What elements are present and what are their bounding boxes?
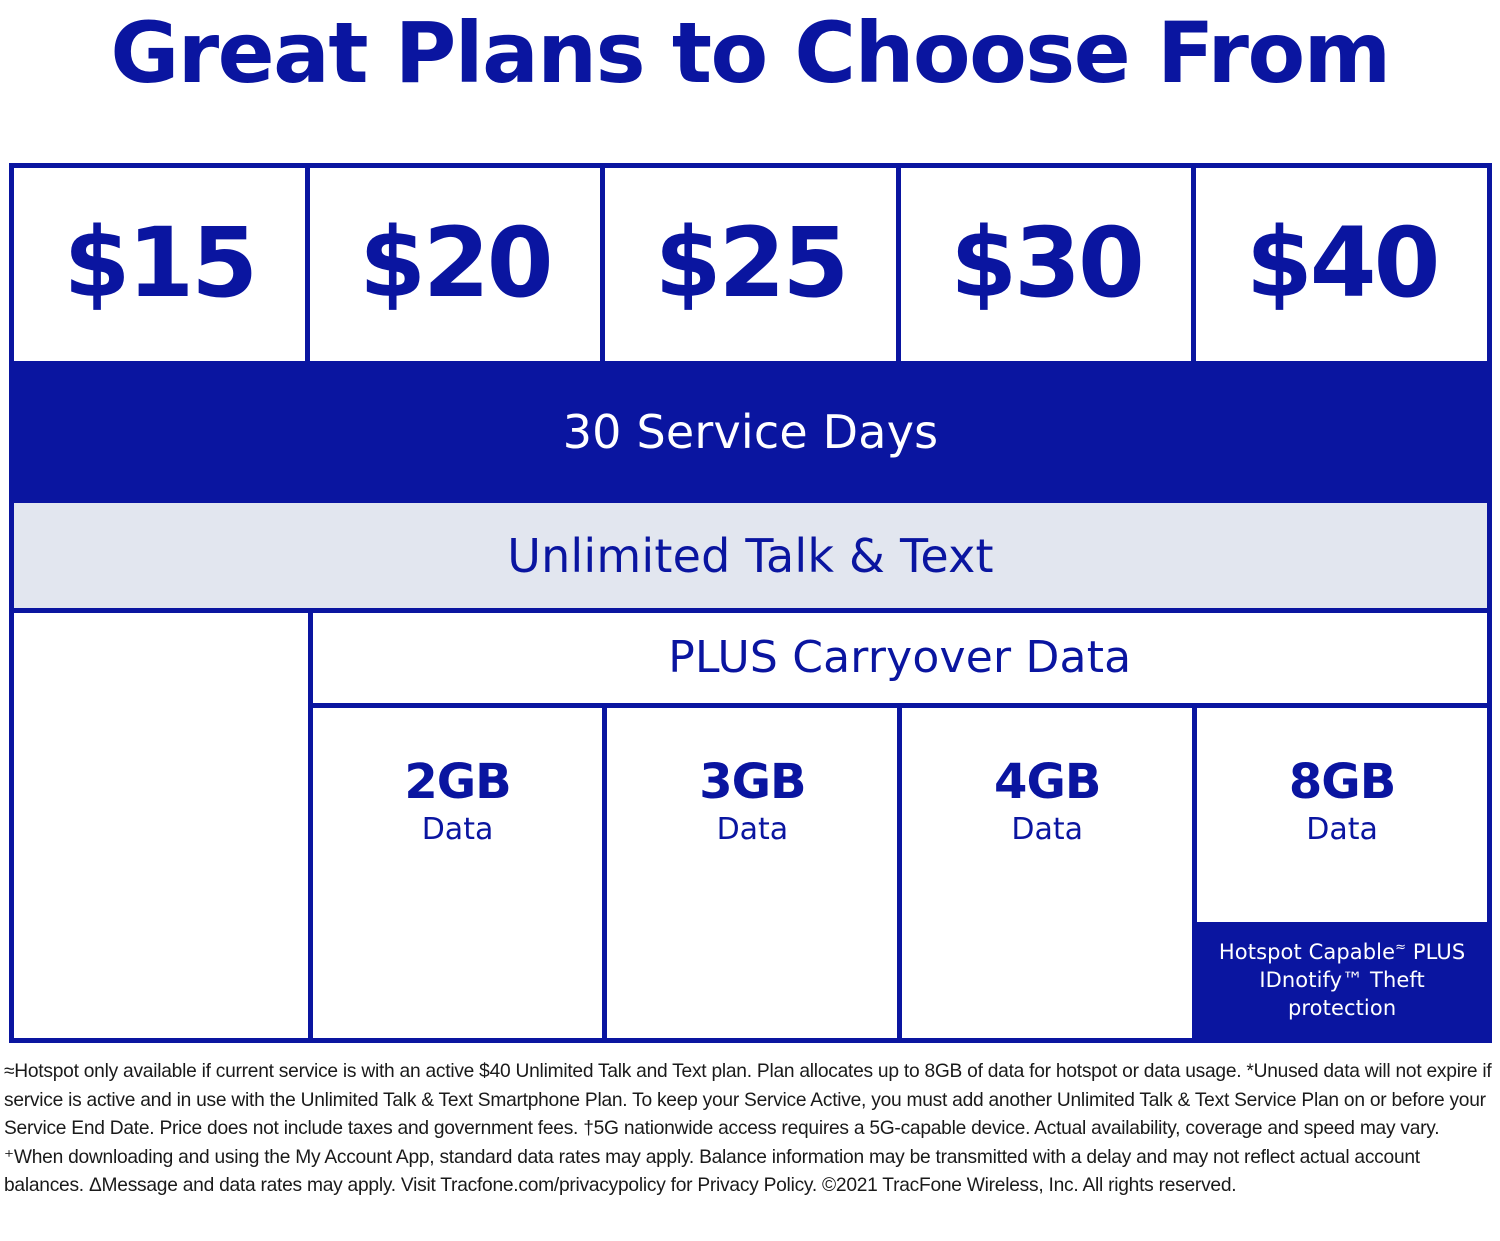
price-label: $30: [950, 215, 1141, 311]
price-label: $25: [655, 215, 846, 311]
data-section: PLUS Carryover Data 2GB Data 3GB Data 4G…: [14, 608, 1487, 1038]
data-unit: Data: [422, 812, 494, 848]
page-title: Great Plans to Choose From: [0, 2, 1500, 104]
data-amount: 2GB: [404, 756, 510, 808]
hotspot-line1-post: PLUS: [1406, 940, 1465, 964]
empty-cell-15: [14, 613, 313, 1038]
hotspot-promo-text: Hotspot Capable≈ PLUSIDnotify™ Theft pro…: [1203, 938, 1481, 1022]
service-days-label: 30 Service Days: [563, 407, 939, 457]
data-cell-20[interactable]: 2GB Data: [313, 708, 603, 1038]
data-amount: 3GB: [699, 756, 805, 808]
plans-table-inner: $15 $20 $25 $30 $40 30 Service Days: [14, 168, 1487, 1038]
legal-footnote: ≈Hotspot only available if current servi…: [4, 1058, 1496, 1201]
hotspot-promo-box: Hotspot Capable≈ PLUSIDnotify™ Theft pro…: [1197, 922, 1487, 1038]
price-column-30[interactable]: $30: [896, 168, 1192, 361]
data-allowance-row: 2GB Data 3GB Data 4GB Data 8GB: [313, 708, 1487, 1038]
talk-text-label: Unlimited Talk & Text: [507, 531, 994, 581]
carryover-row: PLUS Carryover Data: [313, 613, 1487, 708]
service-days-row: 30 Service Days: [14, 361, 1487, 503]
data-cell-40[interactable]: 8GB Data Hotspot Capable≈ PLUSIDnotify™ …: [1192, 708, 1487, 1038]
data-unit: Data: [1306, 812, 1378, 848]
price-header-row: $15 $20 $25 $30 $40: [14, 168, 1487, 361]
hotspot-line2: IDnotify™ Theft protection: [1259, 968, 1425, 1020]
data-cell-25[interactable]: 3GB Data: [602, 708, 897, 1038]
talk-text-row: Unlimited Talk & Text: [14, 503, 1487, 608]
data-unit: Data: [717, 812, 789, 848]
price-label: $40: [1246, 215, 1437, 311]
hotspot-line1-pre: Hotspot Capable: [1219, 940, 1395, 964]
carryover-label: PLUS Carryover Data: [668, 634, 1131, 682]
hotspot-footnote-marker: ≈: [1395, 940, 1406, 955]
plan-comparison-page: Great Plans to Choose From $15 $20 $25 $…: [0, 0, 1500, 1241]
price-label: $15: [64, 215, 255, 311]
price-column-20[interactable]: $20: [305, 168, 601, 361]
plans-table: $15 $20 $25 $30 $40 30 Service Days: [9, 163, 1492, 1043]
price-column-40[interactable]: $40: [1191, 168, 1487, 361]
data-amount: 4GB: [994, 756, 1100, 808]
data-amount: 8GB: [1289, 756, 1395, 808]
data-cell-30[interactable]: 4GB Data: [897, 708, 1192, 1038]
carryover-section: PLUS Carryover Data 2GB Data 3GB Data 4G…: [313, 613, 1487, 1038]
price-column-15[interactable]: $15: [14, 168, 305, 361]
data-unit: Data: [1011, 812, 1083, 848]
price-label: $20: [359, 215, 550, 311]
price-column-25[interactable]: $25: [600, 168, 896, 361]
